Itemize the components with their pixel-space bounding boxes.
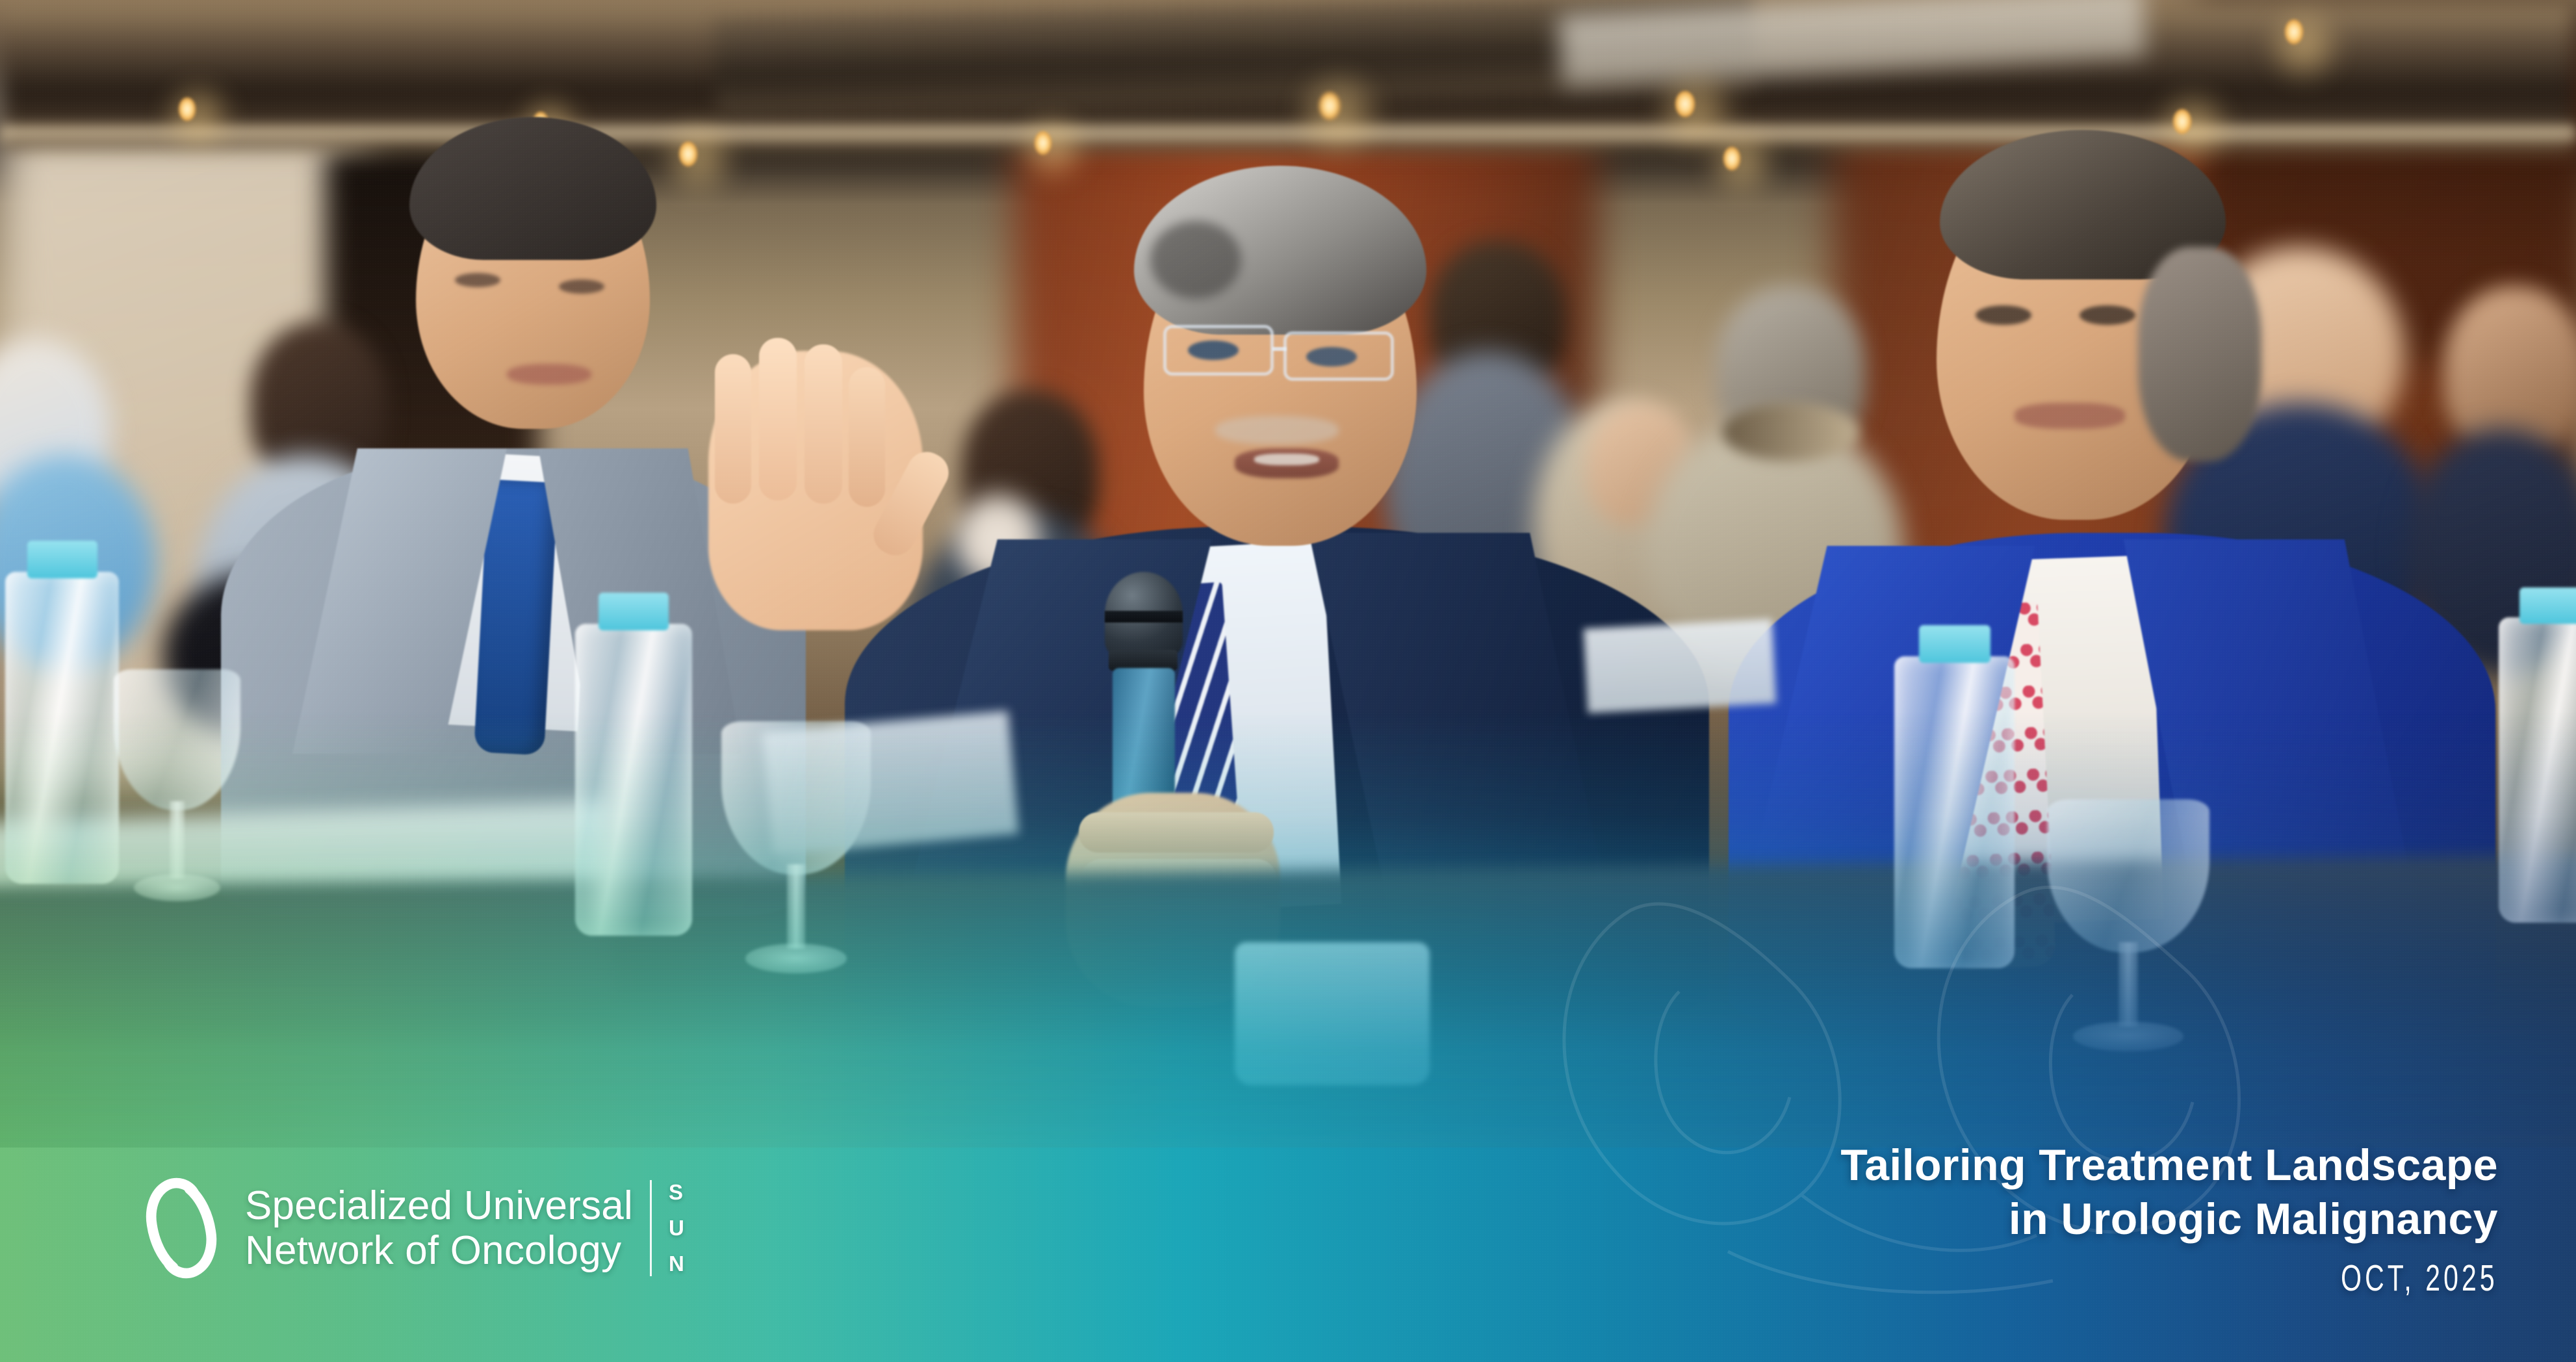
logo-divider <box>650 1180 652 1276</box>
table-card <box>1584 619 1776 713</box>
right-mouth <box>2015 403 2125 429</box>
ceiling-light-icon <box>1035 131 1051 155</box>
bottle-cap <box>27 541 97 578</box>
logo-wordmark: Specialized Universal Network of Oncolog… <box>245 1180 685 1276</box>
sun-logo-lockup: Specialized Universal Network of Oncolog… <box>140 1171 685 1285</box>
center-teeth <box>1254 454 1319 465</box>
event-title-block: Tailoring Treatment Landscape in Urologi… <box>1840 1138 2498 1300</box>
left-eye <box>455 273 500 287</box>
ceiling-light-icon <box>179 97 196 121</box>
microphone-band <box>1105 611 1183 623</box>
center-moustache <box>1215 416 1339 444</box>
event-title-line-2: in Urologic Malignancy <box>1840 1192 2498 1246</box>
finger <box>805 344 842 504</box>
event-title-line-1: Tailoring Treatment Landscape <box>1840 1138 2498 1192</box>
center-hair-dark <box>1150 221 1241 299</box>
acronym-letter-n: N <box>669 1252 685 1276</box>
left-mouth <box>507 364 591 385</box>
event-date: OCT, 2025 <box>2025 1257 2498 1300</box>
ceiling-light-icon <box>2173 109 2191 134</box>
logo-text: Specialized Universal Network of Oncolog… <box>245 1183 633 1274</box>
glasses-bridge <box>1272 347 1287 351</box>
ceiling-light-icon <box>679 142 697 166</box>
downlight-glow <box>656 117 741 201</box>
ceiling-light-icon <box>2285 19 2303 44</box>
right-hair-side <box>2138 247 2261 461</box>
center-eye <box>1188 340 1239 360</box>
logo-line-1: Specialized Universal <box>245 1183 633 1228</box>
finger <box>759 338 797 500</box>
ceiling-light-icon <box>1319 92 1340 120</box>
right-eye <box>1976 305 2031 325</box>
acronym-letter-s: S <box>669 1180 685 1205</box>
center-eye <box>1306 347 1357 366</box>
downlight-glow <box>159 77 237 155</box>
downlight-glow <box>1290 65 1387 162</box>
finger <box>849 367 885 507</box>
right-eye <box>2080 305 2135 325</box>
downlight-glow <box>2261 4 2346 88</box>
downlight-glow <box>1014 109 1092 187</box>
logo-acronym: S U N <box>669 1180 685 1276</box>
bottle-cap <box>1919 625 1990 663</box>
sun-s-monogram-icon <box>140 1171 223 1285</box>
bottle-cap <box>2519 587 2576 624</box>
eyeglasses-icon <box>1722 403 1859 461</box>
logo-line-2: Network of Oncology <box>245 1228 633 1273</box>
acronym-letter-u: U <box>669 1216 685 1240</box>
ceiling-light-icon <box>1723 147 1740 170</box>
finger <box>715 354 751 504</box>
left-eye <box>559 279 604 294</box>
event-banner: Specialized Universal Network of Oncolog… <box>0 0 2576 1362</box>
downlight-glow <box>1703 123 1781 201</box>
ceiling-light-icon <box>1675 91 1695 117</box>
bottle-cap <box>599 593 669 630</box>
